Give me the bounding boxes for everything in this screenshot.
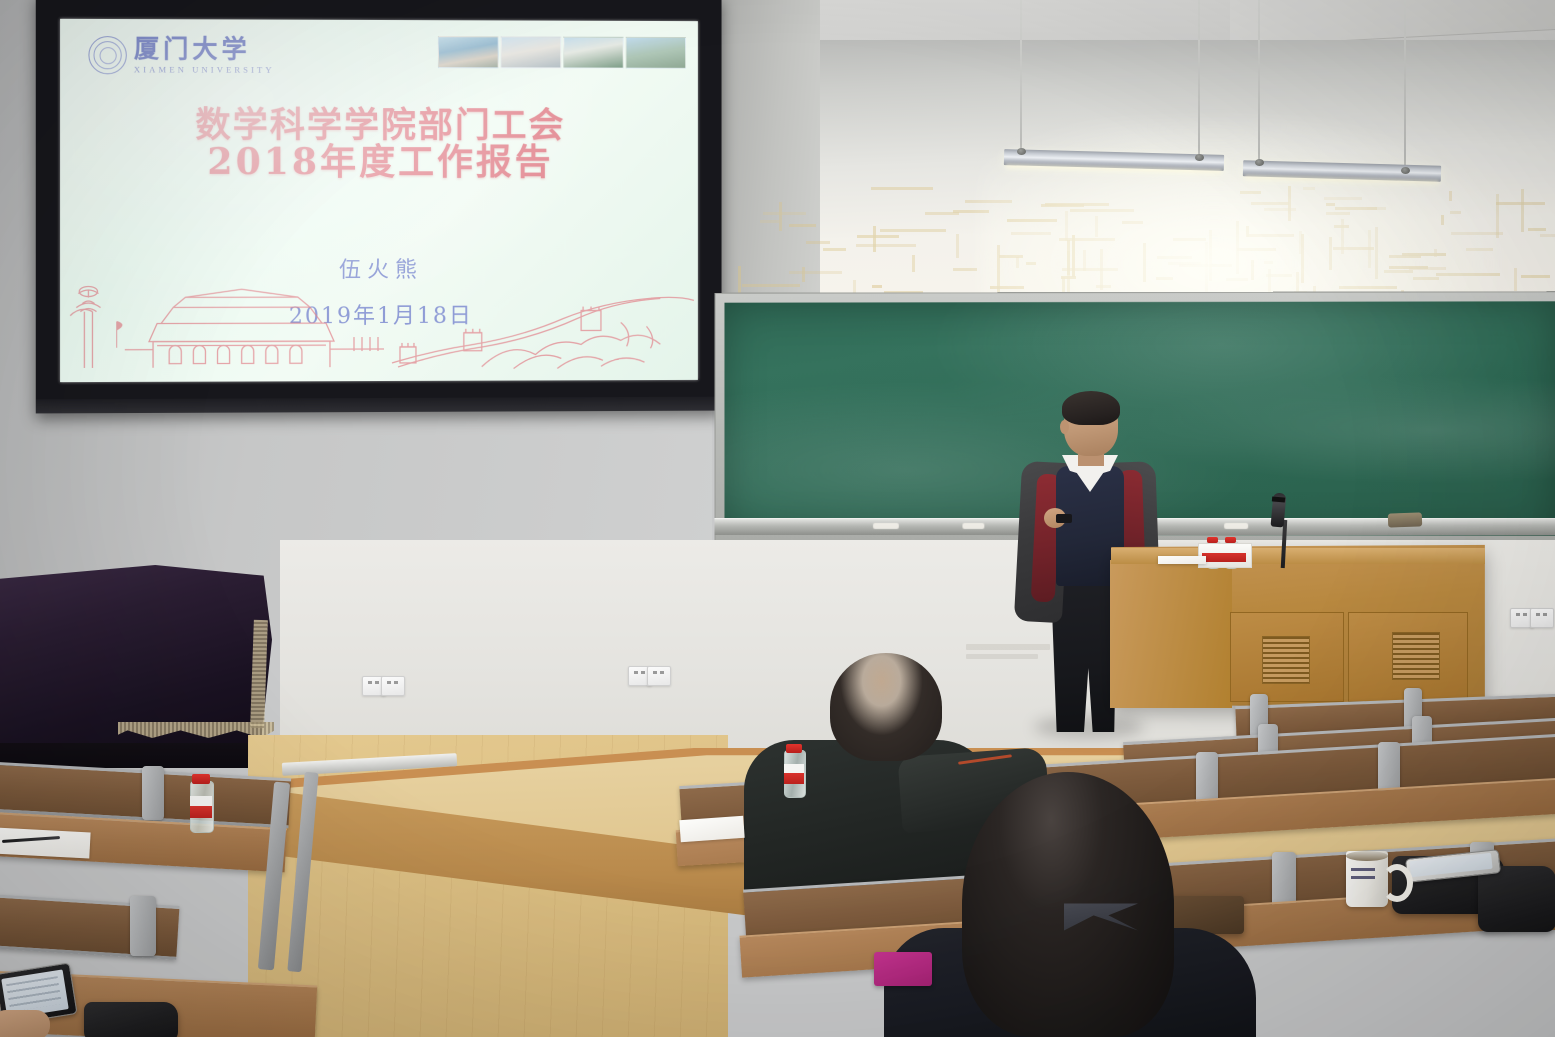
wall-pattern-stroke — [1514, 268, 1517, 291]
wall-pattern-stroke — [779, 202, 782, 231]
wall-pattern-stroke — [880, 229, 946, 232]
bottle-label — [190, 796, 212, 818]
wall-pattern-stroke — [925, 212, 958, 215]
presentation-slide: 厦门大学 XIAMEN UNIVERSITY 数学科学学院部门工会 2018年度… — [60, 19, 698, 382]
presentation-clicker[interactable] — [1056, 514, 1072, 523]
mug-handle — [1381, 864, 1413, 902]
wall-pattern-stroke — [1521, 275, 1550, 278]
lectern-vent — [1262, 636, 1310, 684]
mug-printed-text — [1351, 868, 1375, 884]
projection-screen: 厦门大学 XIAMEN UNIVERSITY 数学科学学院部门工会 2018年度… — [36, 0, 722, 413]
microphone-band — [1272, 496, 1285, 502]
bottle-label — [784, 764, 804, 784]
wall-pattern-stroke — [873, 226, 876, 252]
lecture-hall-scene: 厦门大学 XIAMEN UNIVERSITY 数学科学学院部门工会 2018年度… — [0, 0, 1555, 1037]
wall-scuff — [966, 654, 1038, 659]
wall-pattern-stroke — [806, 241, 830, 244]
hand-holding-phone — [0, 1010, 50, 1037]
seat-bracket — [130, 896, 156, 956]
bottle-cap — [192, 774, 210, 784]
wall-pattern-stroke — [802, 267, 805, 282]
wall-pattern-stroke — [742, 284, 800, 287]
wall-pattern-stroke — [1528, 228, 1545, 231]
handout-papers[interactable] — [0, 828, 91, 859]
chalk — [962, 523, 984, 529]
wall-pattern-stroke — [789, 224, 816, 227]
audience-member-hair — [830, 653, 942, 761]
wall-pattern-stroke — [1540, 234, 1555, 237]
wall-pattern-stroke — [857, 235, 900, 238]
light-mount — [1017, 148, 1026, 155]
cover-fringe — [250, 620, 268, 728]
light-rod — [1404, 0, 1406, 170]
wall-pattern-stroke — [760, 220, 779, 223]
wall-pattern-stroke — [856, 244, 916, 247]
tissue-box-label — [1202, 553, 1246, 562]
presenter-hair — [1062, 391, 1120, 425]
handout-papers[interactable] — [679, 816, 744, 842]
power-outlet-icon — [647, 666, 671, 686]
lectern-papers[interactable] — [1158, 556, 1206, 564]
light-mount — [1401, 167, 1410, 174]
power-outlet-icon — [1530, 608, 1554, 628]
light-rod — [1198, 0, 1200, 158]
wall-pattern-stroke — [853, 280, 856, 294]
piano-velvet-cover — [0, 565, 272, 743]
wall-pattern-stroke — [1496, 202, 1546, 205]
bottle-cap — [786, 744, 802, 753]
pink-notebook[interactable] — [874, 952, 932, 986]
wall-pattern-stroke — [823, 248, 846, 251]
presenter-ear — [1060, 420, 1069, 434]
lectern-side-panel — [1110, 560, 1232, 708]
presenter-shadow — [1034, 716, 1144, 738]
light-rod — [1020, 0, 1022, 152]
wall-pattern-stroke — [912, 255, 915, 272]
chalk — [873, 523, 899, 529]
wall-pattern-stroke — [789, 271, 843, 274]
camera-bag[interactable] — [84, 1002, 178, 1037]
chalk — [1224, 523, 1248, 529]
mug-rim — [1346, 851, 1388, 861]
light-mount — [1195, 154, 1204, 161]
wall-pattern-stroke — [953, 268, 977, 271]
wall-pattern-stroke — [872, 285, 882, 288]
wall-pattern-stroke — [956, 234, 959, 258]
light-mount — [1255, 159, 1264, 166]
wall-scuff — [966, 644, 1050, 650]
lectern-vent — [1392, 632, 1440, 680]
power-outlet-icon — [381, 676, 405, 696]
light-rod — [1258, 0, 1260, 162]
laptop-bag[interactable] — [1478, 866, 1555, 932]
wall-pattern-stroke — [1521, 189, 1524, 232]
wall-pattern-stroke — [763, 212, 806, 215]
blackboard-eraser — [1388, 512, 1422, 527]
slide-glare — [60, 19, 698, 382]
seat-bracket — [142, 766, 164, 820]
wall-pattern-stroke — [871, 187, 934, 190]
